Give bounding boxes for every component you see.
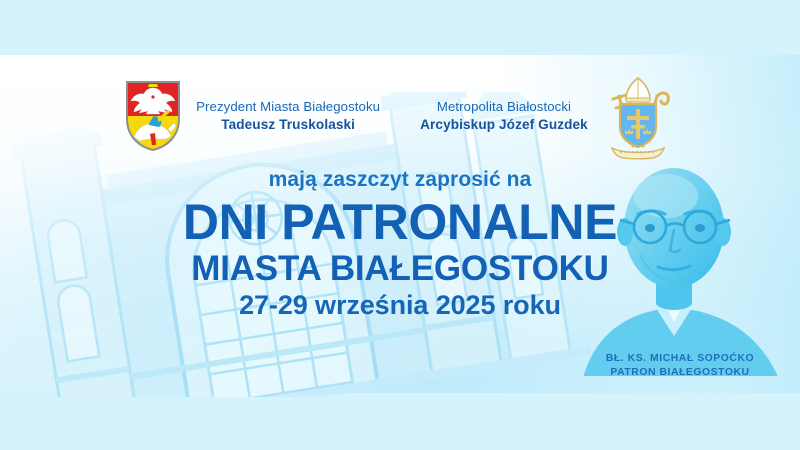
event-title: DNI PATRONALNE bbox=[0, 197, 800, 248]
bialystok-coat-of-arms-icon bbox=[124, 79, 182, 153]
bottom-band bbox=[0, 393, 800, 450]
city-authority-text: Prezydent Miasta Białegostoku Tadeusz Tr… bbox=[196, 99, 380, 133]
patron-caption-line2: PATRON BIAŁEGOSTOKU bbox=[585, 366, 775, 380]
patron-caption: BŁ. KS. MICHAŁ SOPOĆKO PATRON BIAŁEGOSTO… bbox=[585, 352, 775, 380]
city-authority: Prezydent Miasta Białegostoku Tadeusz Tr… bbox=[124, 79, 380, 153]
authorities-header: Prezydent Miasta Białegostoku Tadeusz Tr… bbox=[0, 66, 800, 166]
event-date: 27-29 września 2025 roku bbox=[0, 291, 800, 321]
city-role-label: Prezydent Miasta Białegostoku bbox=[196, 99, 380, 116]
event-subtitle: MIASTA BIAŁEGOSTOKU bbox=[0, 251, 800, 287]
invitation-lead-text: mają zaszczyt zaprosić na bbox=[0, 168, 800, 191]
church-authority-text: Metropolita Białostocki Arcybiskup Józef… bbox=[420, 99, 588, 133]
event-poster: Prezydent Miasta Białegostoku Tadeusz Tr… bbox=[0, 0, 800, 450]
top-band bbox=[0, 0, 800, 55]
church-authority: Metropolita Białostocki Arcybiskup Józef… bbox=[420, 72, 676, 160]
invitation-block: mają zaszczyt zaprosić na DNI PATRONALNE… bbox=[0, 168, 800, 321]
church-role-label: Metropolita Białostocki bbox=[420, 99, 588, 116]
patron-caption-line1: BŁ. KS. MICHAŁ SOPOĆKO bbox=[585, 352, 775, 366]
archdiocese-coat-of-arms-icon bbox=[600, 72, 676, 160]
church-person-name: Arcybiskup Józef Guzdek bbox=[420, 116, 588, 133]
city-person-name: Tadeusz Truskolaski bbox=[196, 116, 380, 133]
